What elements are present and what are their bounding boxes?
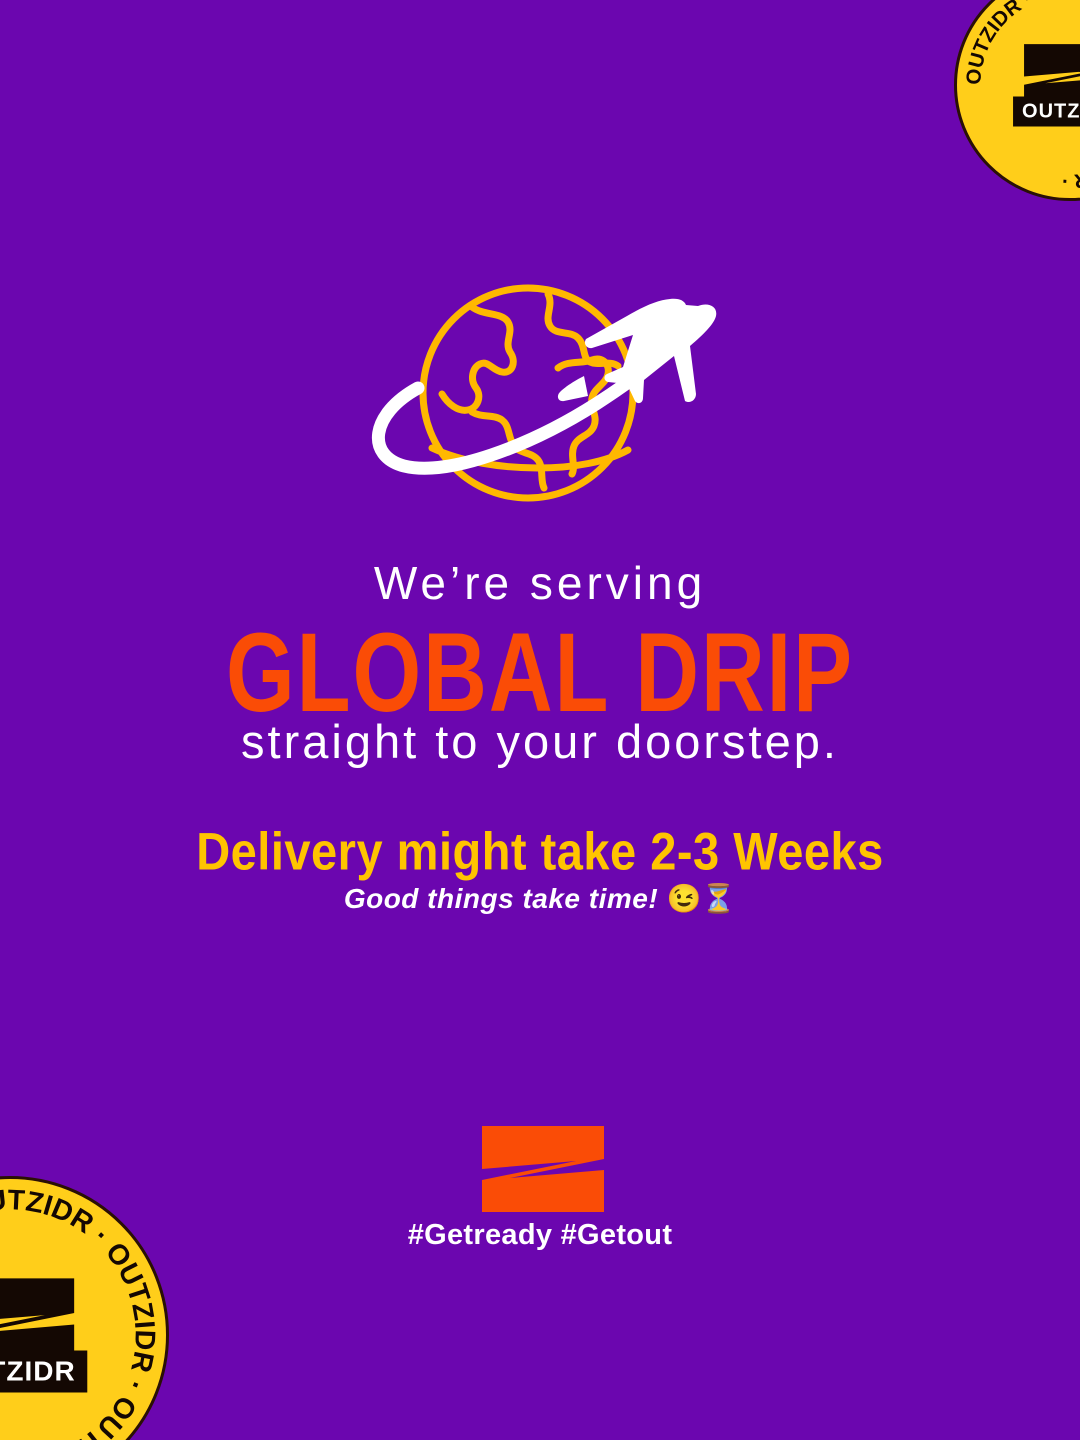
globe-airplane-illustration xyxy=(352,272,724,522)
badge-core-top-right: OUTZIDR xyxy=(1013,44,1080,127)
wink-hourglass-emoji: 😉⏳ xyxy=(666,883,736,914)
outzidr-z-logo xyxy=(482,1126,604,1212)
poster-canvas: We’re serving GLOBAL DRIP straight to yo… xyxy=(0,0,1080,1440)
outzidr-badge-bottom-left: OUTZIDR · OUTZIDR · OUTZIDR · OUTZIDR · … xyxy=(0,1176,169,1440)
reassurance-text: Good things take time! xyxy=(344,883,658,914)
badge-wordmark-bl: OUTZIDR xyxy=(0,1351,88,1393)
delivery-reassurance: Good things take time! 😉⏳ xyxy=(0,882,1080,915)
headline-line-3: straight to your doorstep. xyxy=(0,714,1080,769)
delivery-notice: Delivery might take 2-3 Weeks xyxy=(0,820,1080,882)
badge-wordmark-tr: OUTZIDR xyxy=(1013,97,1080,127)
headline-line-1: We’re serving xyxy=(0,556,1080,610)
outzidr-badge-top-right: OUTZIDR · OUTZIDR · OUTZIDR · OUTZIDR · … xyxy=(954,0,1080,201)
badge-core-bottom-left: OUTZIDR xyxy=(0,1278,88,1393)
